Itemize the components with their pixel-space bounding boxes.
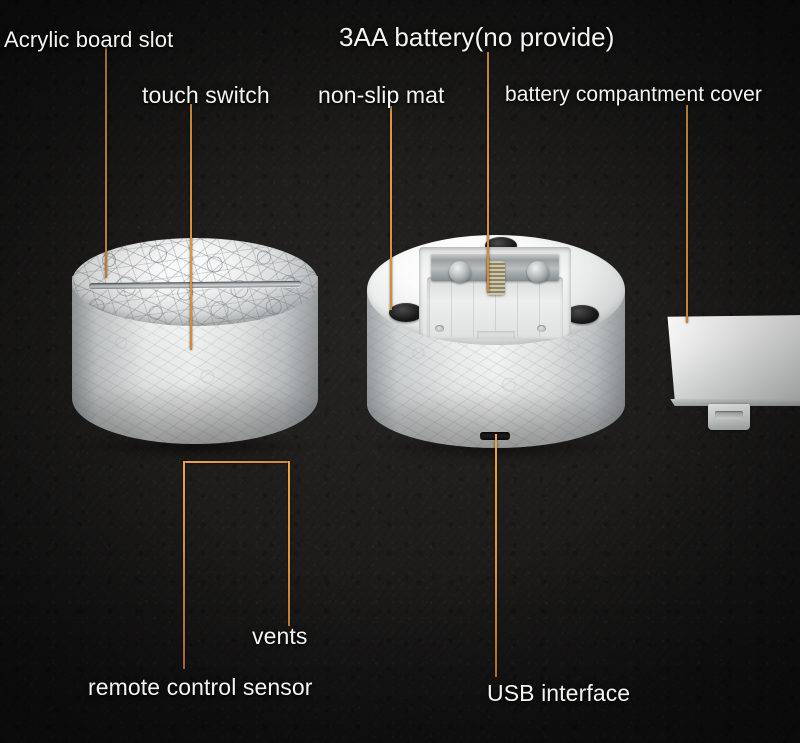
label-usb-interface: USB interface (487, 680, 630, 707)
diagram-canvas: Acrylic board slot touch switch 3AA batt… (0, 0, 800, 743)
vignette-overlay (0, 0, 800, 743)
label-acrylic-board-slot: Acrylic board slot (4, 27, 173, 53)
label-non-slip-mat: non-slip mat (318, 82, 444, 109)
label-vents: vents (252, 623, 307, 650)
label-battery-3aa: 3AA battery(no provide) (339, 22, 614, 53)
label-battery-compartment-cover: battery compantment cover (505, 83, 762, 107)
label-remote-control-sensor: remote control sensor (88, 674, 313, 701)
label-touch-switch: touch switch (142, 82, 270, 109)
